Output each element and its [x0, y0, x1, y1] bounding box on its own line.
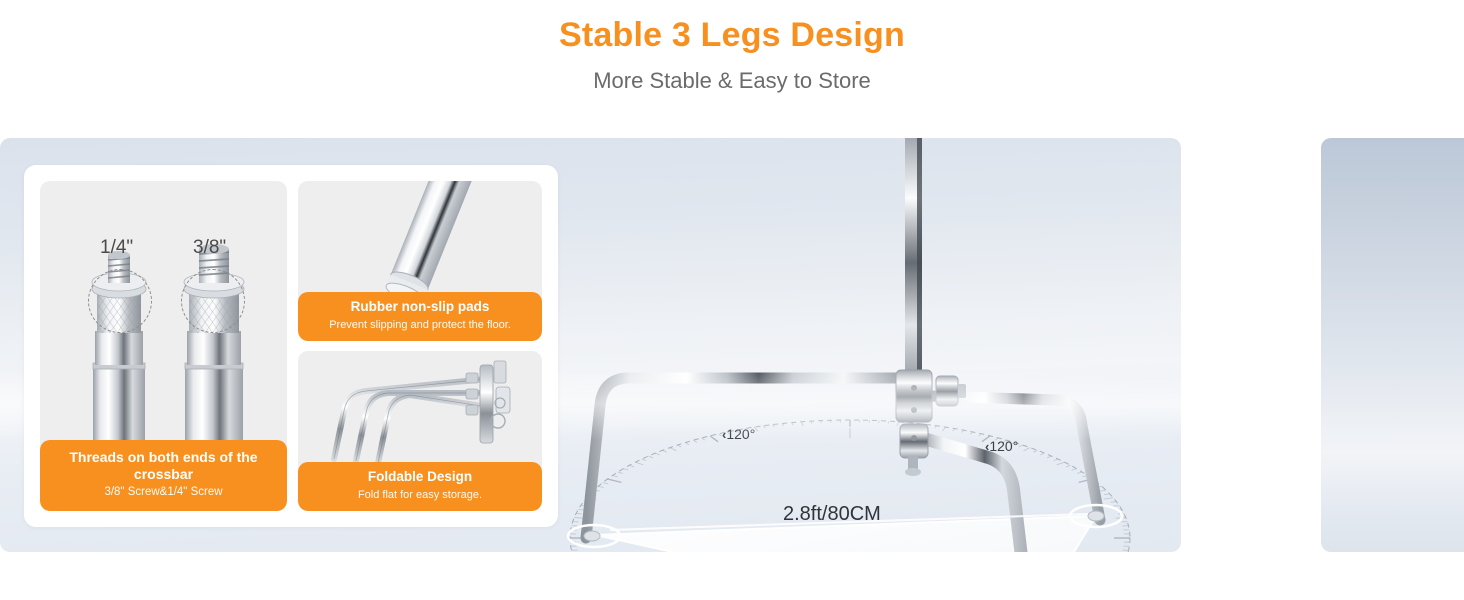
caption-rubber-pads: Rubber non-slip pads Prevent slipping an… [298, 292, 542, 341]
feature-tile-foldable[interactable]: Foldable Design Fold flat for easy stora… [298, 351, 542, 511]
page-title: Stable 3 Legs Design [0, 16, 1464, 55]
caption-foldable-title: Foldable Design [298, 469, 542, 485]
caption-threads: Threads on both ends of the crossbar 3/8… [40, 440, 287, 511]
angle-label-left: ‹120° [722, 426, 755, 442]
angle-arrow-left-icon: ‹ [722, 427, 726, 442]
highlight-circle-three-eighth-inch [181, 269, 245, 333]
caption-foldable-sub: Fold flat for easy storage. [298, 488, 542, 502]
caption-rubber-pads-sub: Prevent slipping and protect the floor. [298, 318, 542, 332]
feature-tile-rubber-pads[interactable]: Rubber non-slip pads Prevent slipping an… [298, 181, 542, 341]
screw-label-quarter-inch: 1/4" [100, 237, 133, 259]
span-measurement-label: 2.8ft/80CM [783, 503, 881, 526]
highlight-circle-quarter-inch [88, 269, 152, 333]
caption-threads-title: Threads on both ends of the crossbar [46, 449, 281, 483]
feature-cards-container: 1/4" 3/8" Threads on both ends of the cr… [24, 165, 558, 527]
adjacent-panel-preview [1321, 138, 1464, 552]
header: Stable 3 Legs Design More Stable & Easy … [0, 0, 1464, 130]
angle-left-value: 120° [726, 426, 755, 442]
caption-foldable: Foldable Design Fold flat for easy stora… [298, 462, 542, 511]
caption-rubber-pads-title: Rubber non-slip pads [298, 299, 542, 315]
screw-label-three-eighth-inch: 3/8" [193, 237, 226, 259]
product-feature-banner: Stable 3 Legs Design More Stable & Easy … [0, 0, 1464, 600]
angle-label-right: ‹120° [985, 438, 1018, 454]
angle-right-value: 120° [989, 438, 1018, 454]
caption-threads-sub: 3/8" Screw&1/4" Screw [46, 485, 281, 500]
feature-tile-threads[interactable]: 1/4" 3/8" Threads on both ends of the cr… [40, 181, 287, 511]
page-subtitle: More Stable & Easy to Store [0, 68, 1464, 94]
